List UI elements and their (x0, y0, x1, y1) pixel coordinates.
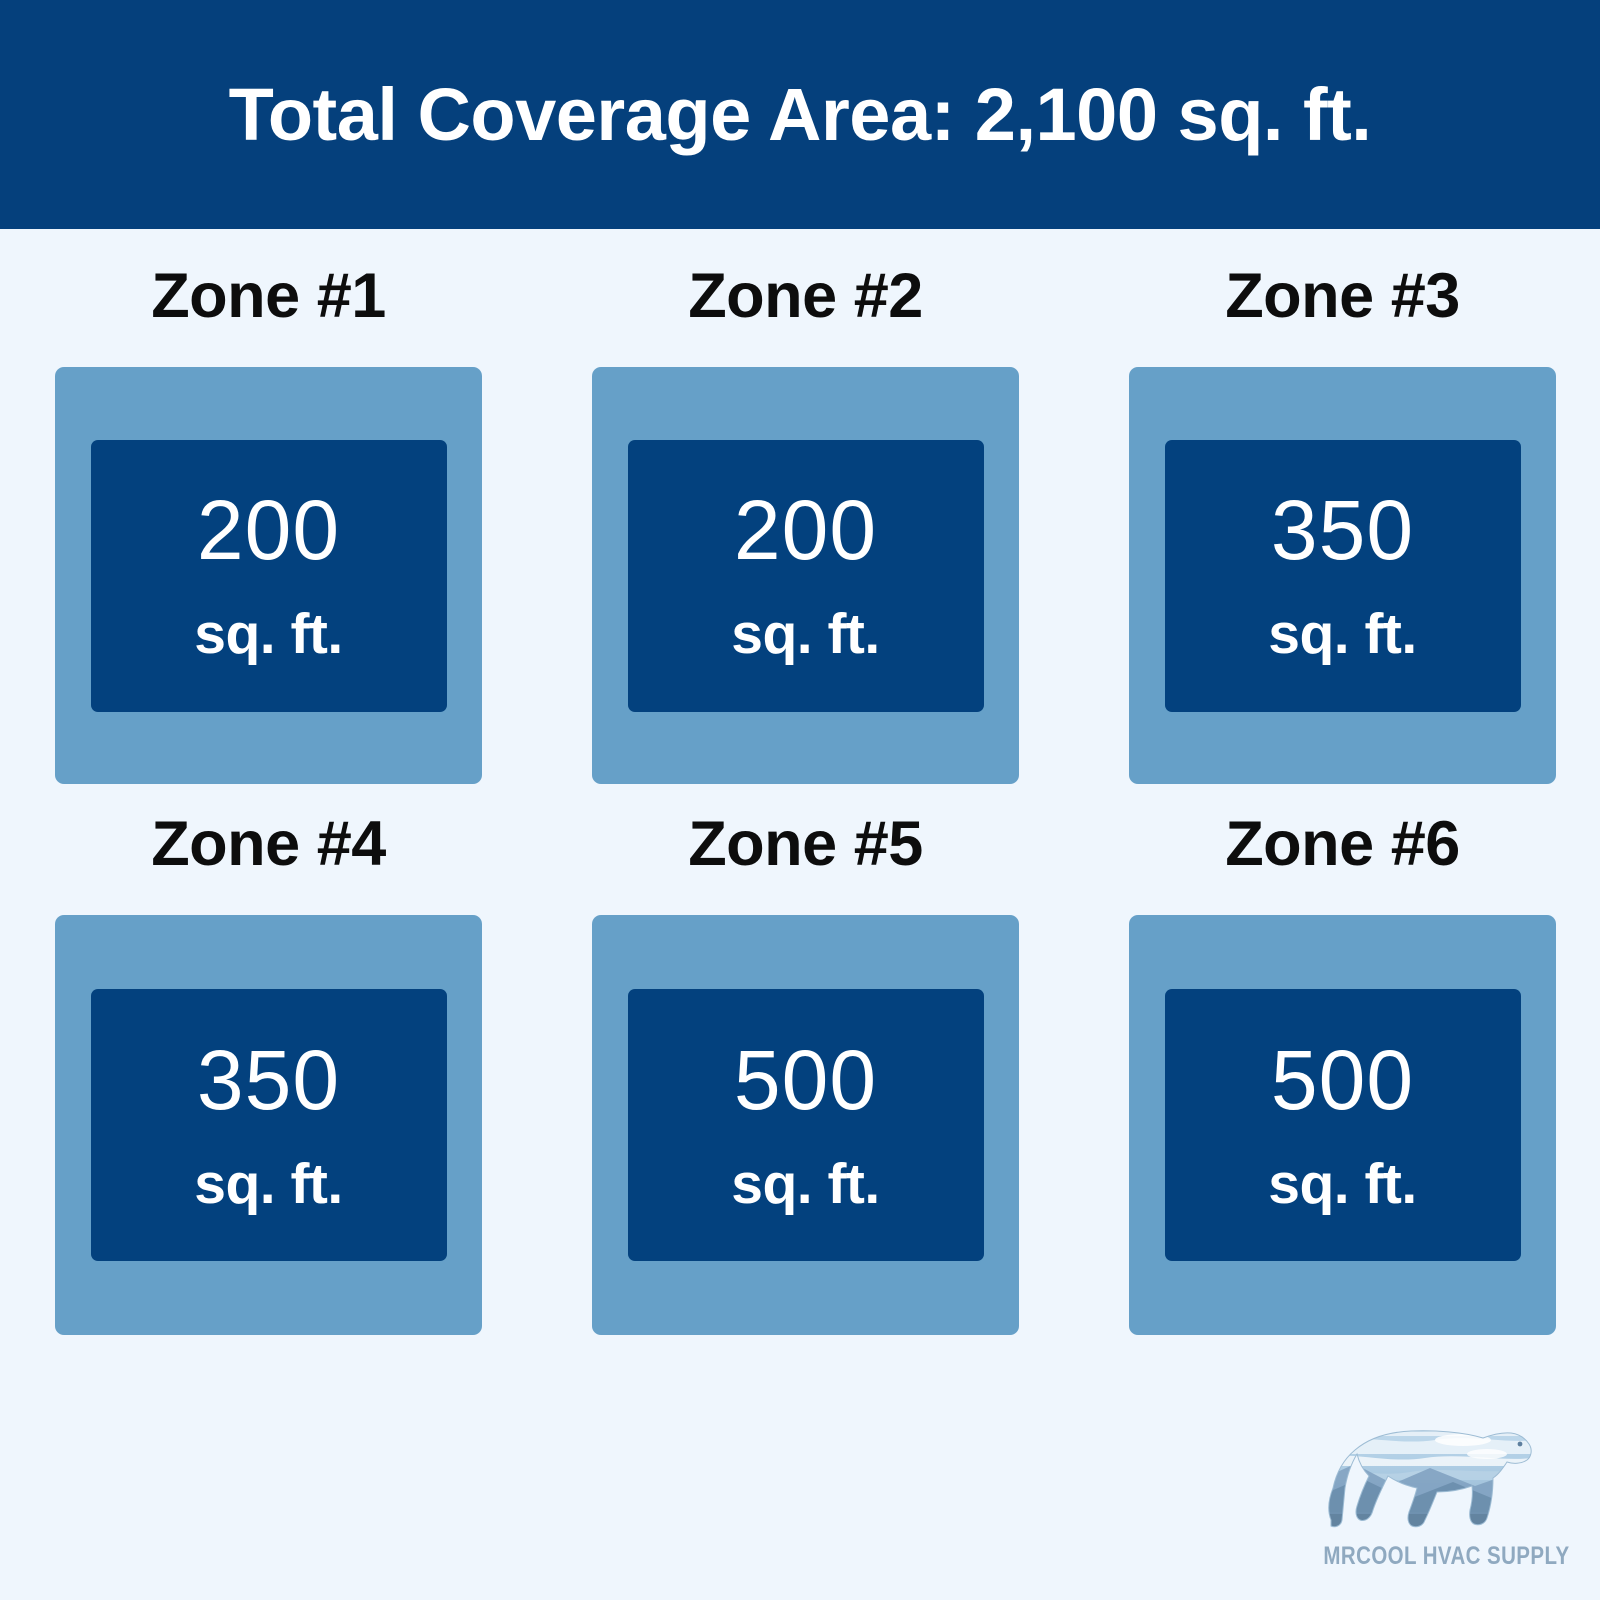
zone-inner-6: 500 sq. ft. (1165, 989, 1521, 1261)
zone-value-5: 500 (734, 1038, 877, 1122)
zone-inner-4: 350 sq. ft. (91, 989, 447, 1261)
zone-label-3: Zone #3 (1225, 265, 1460, 328)
zone-unit-6: sq. ft. (1268, 1156, 1417, 1213)
zone-label-1: Zone #1 (151, 265, 386, 328)
zone-card-5[interactable]: 500 sq. ft. (592, 915, 1019, 1335)
zone-item-2[interactable]: Zone #2 200 sq. ft. (592, 229, 1019, 784)
zone-item-6[interactable]: Zone #6 500 sq. ft. (1129, 784, 1556, 1335)
zone-label-4: Zone #4 (151, 813, 386, 876)
zone-label-6: Zone #6 (1225, 813, 1460, 876)
zone-unit-2: sq. ft. (731, 606, 880, 663)
zone-item-3[interactable]: Zone #3 350 sq. ft. (1129, 229, 1556, 784)
zone-value-6: 500 (1271, 1038, 1414, 1122)
zone-value-3: 350 (1271, 488, 1414, 572)
zone-grid: Zone #1 200 sq. ft. Zone #2 200 sq. ft. (55, 229, 1556, 1335)
zone-unit-1: sq. ft. (194, 606, 343, 663)
zone-card-3[interactable]: 350 sq. ft. (1129, 367, 1556, 784)
zone-value-4: 350 (197, 1038, 340, 1122)
zone-unit-4: sq. ft. (194, 1156, 343, 1213)
zone-unit-5: sq. ft. (731, 1156, 880, 1213)
polar-bear-icon (1315, 1402, 1545, 1542)
zone-inner-1: 200 sq. ft. (91, 440, 447, 712)
zone-card-1[interactable]: 200 sq. ft. (55, 367, 482, 784)
brand-logo: MRCOOL HVAC SUPPLY (1300, 1402, 1560, 1592)
zone-inner-5: 500 sq. ft. (628, 989, 984, 1261)
zone-item-5[interactable]: Zone #5 500 sq. ft. (592, 784, 1019, 1335)
logo-wordmark: MRCOOL HVAC SUPPLY (1323, 1544, 1536, 1569)
zone-row-2: Zone #4 350 sq. ft. Zone #5 500 sq. ft. (55, 784, 1556, 1335)
zone-item-4[interactable]: Zone #4 350 sq. ft. (55, 784, 482, 1335)
zone-item-1[interactable]: Zone #1 200 sq. ft. (55, 229, 482, 784)
coverage-area-infographic: Total Coverage Area: 2,100 sq. ft. Zone … (0, 0, 1600, 1600)
zone-label-5: Zone #5 (688, 813, 923, 876)
zone-label-2: Zone #2 (688, 265, 923, 328)
zone-row-1: Zone #1 200 sq. ft. Zone #2 200 sq. ft. (55, 229, 1556, 784)
zone-value-1: 200 (197, 488, 340, 572)
zone-unit-3: sq. ft. (1268, 606, 1417, 663)
zone-card-4[interactable]: 350 sq. ft. (55, 915, 482, 1335)
zone-card-2[interactable]: 200 sq. ft. (592, 367, 1019, 784)
header-band: Total Coverage Area: 2,100 sq. ft. (0, 0, 1600, 229)
zone-inner-3: 350 sq. ft. (1165, 440, 1521, 712)
page-title: Total Coverage Area: 2,100 sq. ft. (229, 78, 1372, 152)
zone-value-2: 200 (734, 488, 877, 572)
zone-card-6[interactable]: 500 sq. ft. (1129, 915, 1556, 1335)
zone-inner-2: 200 sq. ft. (628, 440, 984, 712)
